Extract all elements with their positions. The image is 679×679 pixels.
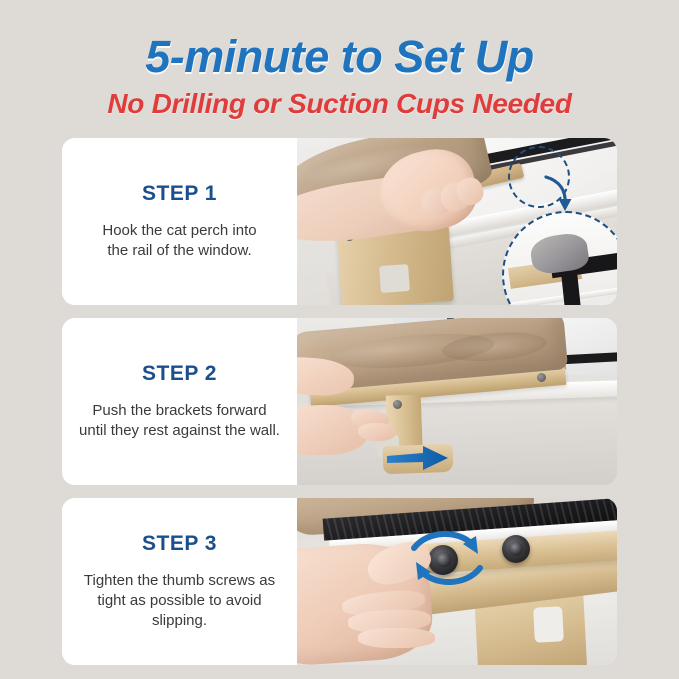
step-3-text-panel: STEP 3 Tighten the thumb screws as tight… [62,498,297,665]
thumb-screw-knob [502,535,530,563]
step-1-description-line-2: the rail of the window. [107,242,251,259]
step-2-description: Push the brackets forward until they res… [79,401,280,441]
step-card-2: STEP 2 Push the brackets forward until t… [62,318,617,485]
step-card-1: STEP 1 Hook the cat perch into the rail … [62,138,617,305]
page-title: 5-minute to Set Up [0,31,679,83]
step-3-label: STEP 3 [142,532,217,556]
step-3-photo [297,498,617,665]
step-2-description-line-2: until they rest against the wall. [79,422,280,439]
step-1-label: STEP 1 [142,182,217,206]
step-1-photo [297,138,617,305]
step-1-text-panel: STEP 1 Hook the cat perch into the rail … [62,138,297,305]
finger [358,628,435,648]
step-3-description-line-2: tight as possible to avoid [97,592,261,609]
step-3-description-line-1: Tighten the thumb screws as [84,572,275,589]
step-1-description: Hook the cat perch into the rail of the … [102,221,256,261]
step-card-3: STEP 3 Tighten the thumb screws as tight… [62,498,617,665]
callout-arrow-icon [540,175,574,215]
step-2-label: STEP 2 [142,362,217,386]
leg-cutout [533,606,564,643]
step-2-photo [297,318,617,485]
bracket-notch [379,264,410,293]
step-3-description: Tighten the thumb screws as tight as pos… [84,571,275,630]
page-subtitle: No Drilling or Suction Cups Needed [0,88,679,120]
rotation-arrows-icon [406,528,492,590]
step-2-text-panel: STEP 2 Push the brackets forward until t… [62,318,297,485]
step-1-description-line-1: Hook the cat perch into [102,222,256,239]
push-direction-arrow-icon [387,445,449,471]
step-2-description-line-1: Push the brackets forward [92,402,266,419]
header: 5-minute to Set Up No Drilling or Suctio… [0,0,679,134]
bracket-screw [393,400,402,409]
step-3-description-line-3: slipping. [152,612,207,629]
